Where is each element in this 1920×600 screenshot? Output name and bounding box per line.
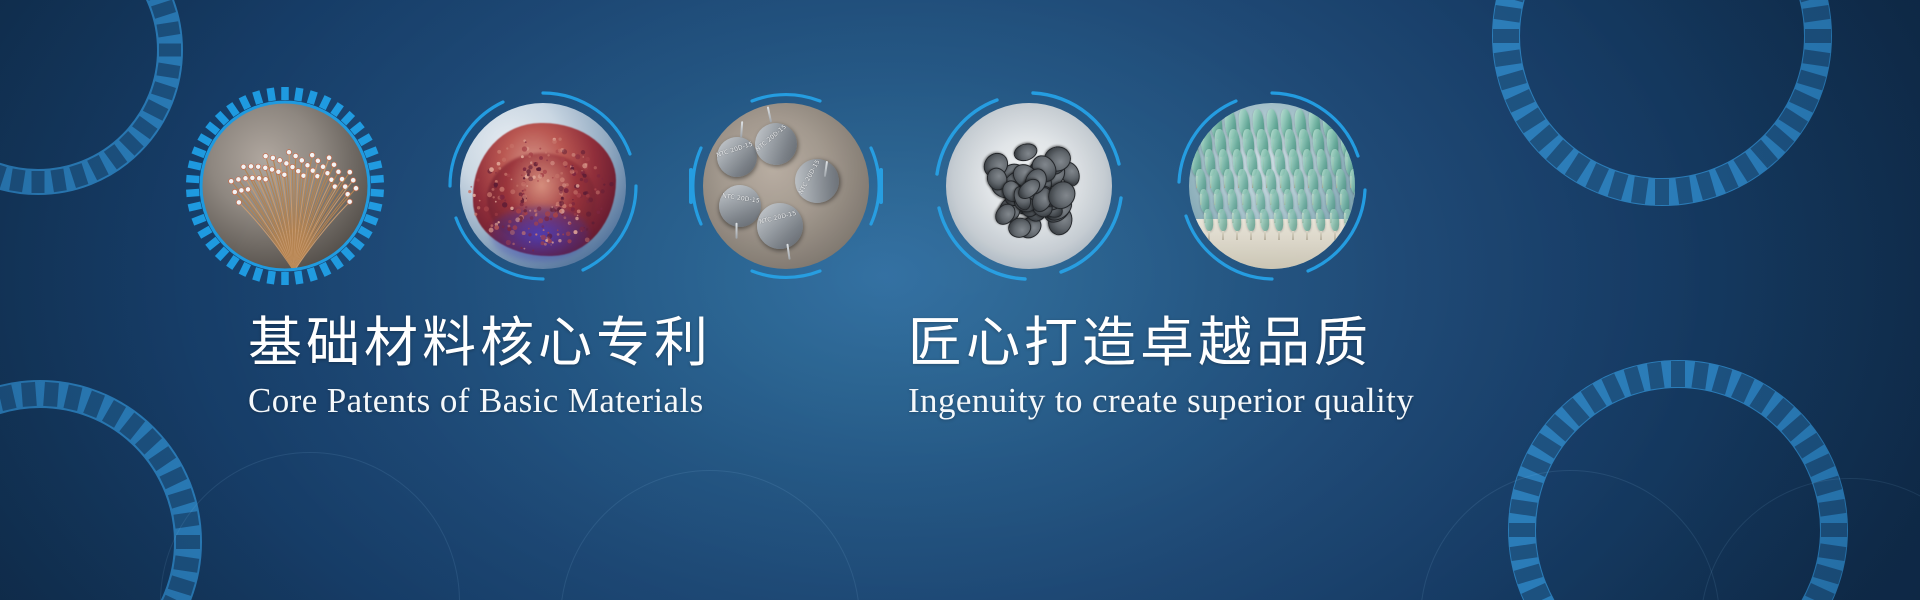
ring-gapped-arcs <box>929 86 1129 286</box>
medallion-silver-ball-lead-wires <box>185 86 385 286</box>
ring-gapped-arcs <box>1172 86 1372 286</box>
headline-left: 基础材料核心专利 Core Patents of Basic Materials <box>248 312 712 422</box>
ghost-ring-1 <box>160 452 460 600</box>
headline-row: 基础材料核心专利 Core Patents of Basic Materials… <box>0 312 1920 452</box>
medallion-red-ceramic-powder <box>443 86 643 286</box>
ring-segmented-ticks <box>185 86 385 286</box>
medallion-black-ceramic-discs <box>929 86 1129 286</box>
headline-right-en: Ingenuity to create superior quality <box>908 380 1414 422</box>
medallion-green-resistor-array <box>1172 86 1372 286</box>
ring-gapped-arcs <box>443 86 643 286</box>
ring-arcs-with-side-ticks <box>686 86 886 286</box>
hero-banner: NTC 20D-15 NTC 20D-15 NTC 20D-15 NTC 20D… <box>0 0 1920 600</box>
headline-left-en: Core Patents of Basic Materials <box>248 380 712 422</box>
headline-right: 匠心打造卓越品质 Ingenuity to create superior qu… <box>908 312 1414 422</box>
headline-left-cn: 基础材料核心专利 <box>248 312 712 374</box>
ghost-ring-2 <box>560 470 860 600</box>
ghost-ring-4 <box>1700 478 1920 600</box>
medallion-row: NTC 20D-15 NTC 20D-15 NTC 20D-15 NTC 20D… <box>0 86 1920 286</box>
ghost-ring-3 <box>1420 470 1720 600</box>
headline-right-cn: 匠心打造卓越品质 <box>908 312 1414 374</box>
medallion-ntc-thermistors: NTC 20D-15 NTC 20D-15 NTC 20D-15 NTC 20D… <box>686 86 886 286</box>
